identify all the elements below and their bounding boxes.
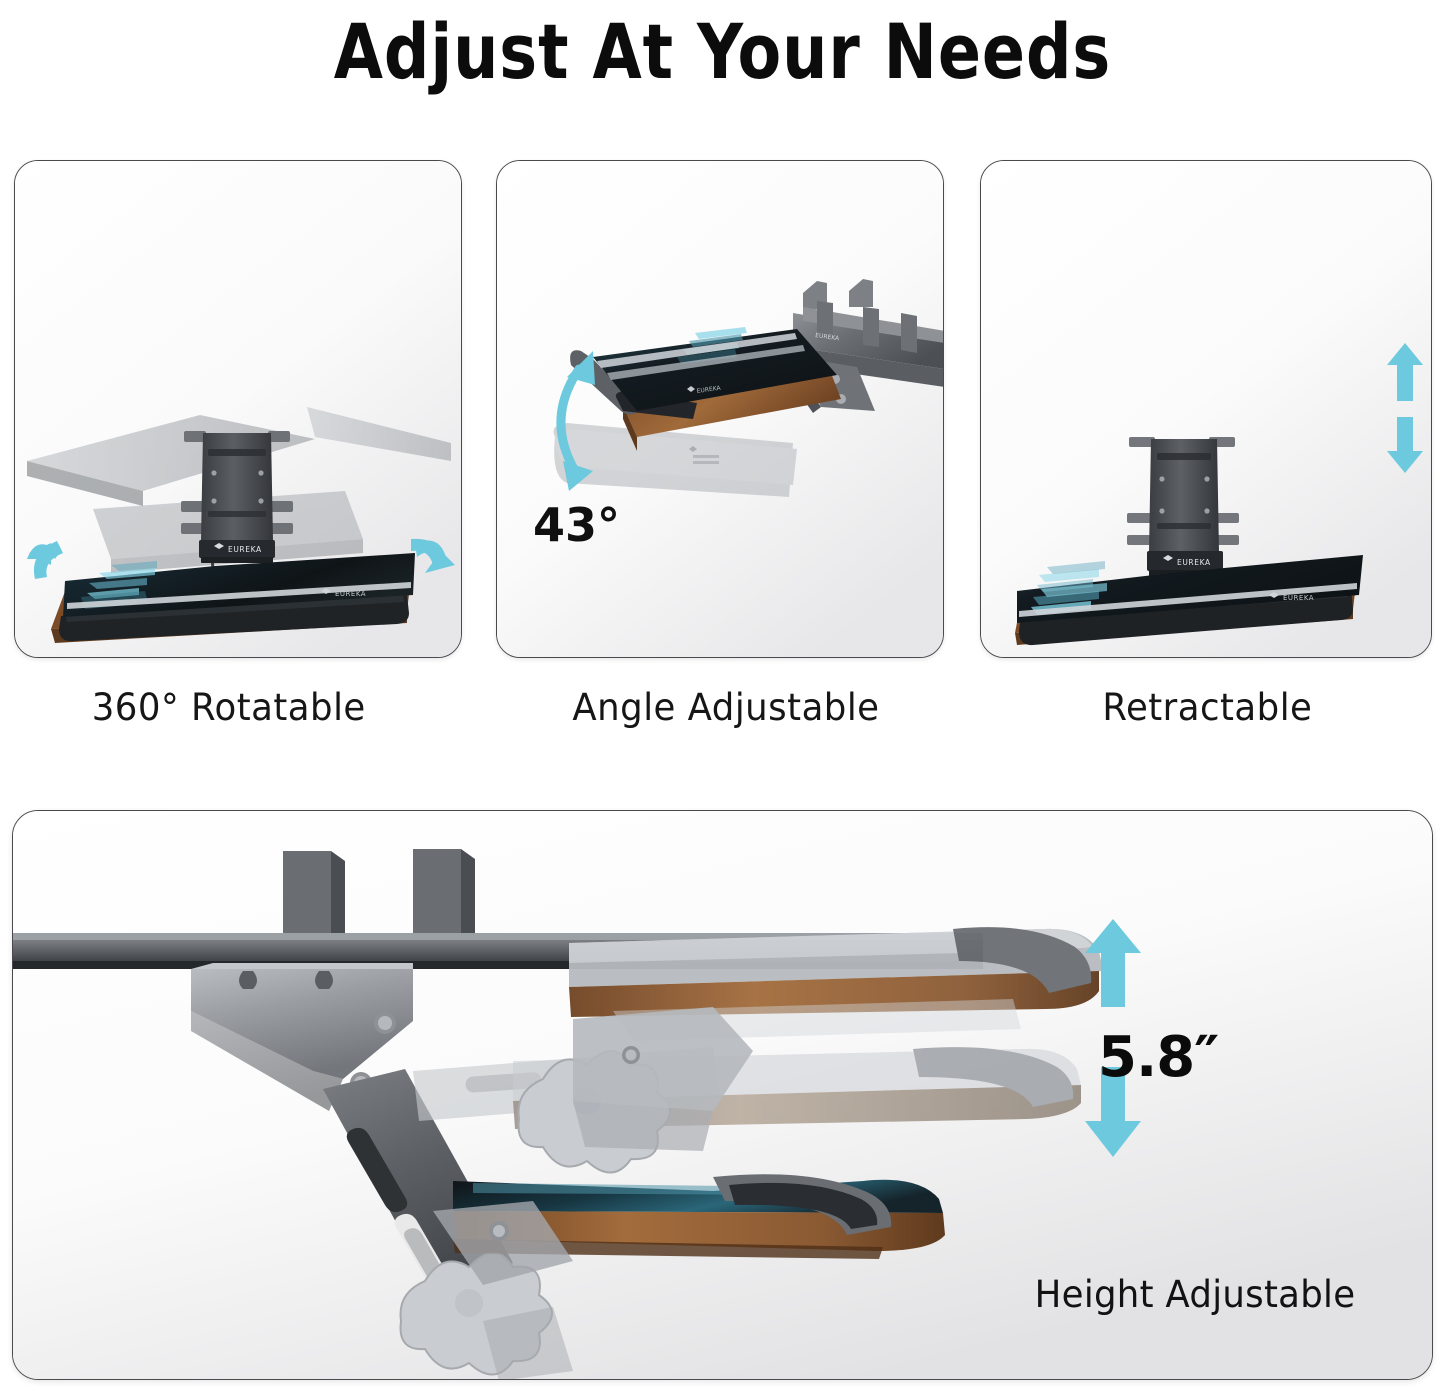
feature-card-angle-adjustable: EUREKA bbox=[496, 160, 944, 658]
svg-text:EUREKA: EUREKA bbox=[1283, 594, 1314, 602]
svg-text:EUREKA: EUREKA bbox=[228, 545, 262, 554]
rotatable-illustration: EUREKA bbox=[15, 161, 462, 658]
caption-angle-adjustable: Angle Adjustable bbox=[572, 686, 879, 736]
feature-cards-row: EUREKA bbox=[0, 160, 1445, 660]
feature-card-retractable: EUREKA bbox=[980, 160, 1432, 658]
caption-retractable: Retractable bbox=[1102, 686, 1312, 736]
angle-illustration: EUREKA bbox=[497, 161, 944, 658]
svg-text:EUREKA: EUREKA bbox=[1177, 558, 1211, 567]
caption-height-adjustable: Height Adjustable bbox=[1035, 1273, 1356, 1316]
page-title: Adjust At Your Needs bbox=[51, 4, 1395, 100]
svg-text:EUREKA: EUREKA bbox=[335, 590, 366, 598]
height-measurement: 5.8″ bbox=[1098, 1025, 1218, 1090]
caption-rotatable: 360° Rotatable bbox=[92, 686, 366, 736]
retractable-illustration: EUREKA bbox=[981, 161, 1432, 658]
angle-annotation: 43° bbox=[533, 498, 620, 552]
infographic-page: Adjust At Your Needs bbox=[0, 0, 1445, 1395]
feature-card-rotatable: EUREKA bbox=[14, 160, 462, 658]
feature-captions: 360° Rotatable Angle Adjustable Retracta… bbox=[0, 686, 1445, 746]
